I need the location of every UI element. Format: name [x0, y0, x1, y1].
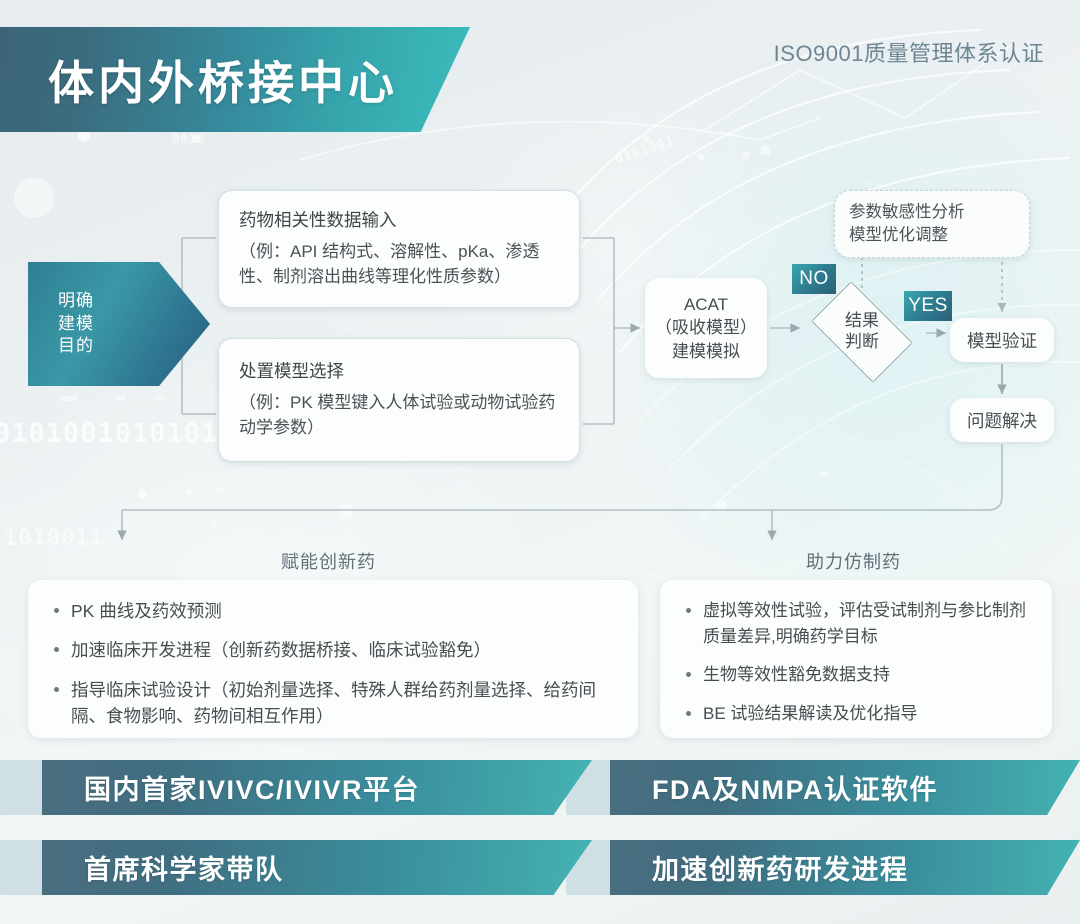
badge-no: NO: [792, 264, 836, 294]
bullet-icon: [686, 608, 691, 613]
glow-dot-decoration: [218, 486, 224, 492]
strip-label: 国内首家IVIVC/IVIVR平台: [84, 768, 420, 807]
decision-line-2: 判断: [845, 332, 879, 353]
binary-code-decoration: 0010: [172, 132, 205, 146]
bullet-icon: [54, 647, 59, 652]
page-title: 体内外桥接中心: [48, 47, 398, 113]
glow-dot-decoration: [820, 470, 828, 478]
strip-label: 首席科学家带队: [84, 848, 284, 887]
purpose-line-2: 建模: [28, 313, 210, 335]
glow-dot-decoration: [716, 500, 727, 511]
strip-banner-ivivc-platform: 国内首家IVIVC/IVIVR平台: [42, 760, 592, 815]
acat-line-3: 建模模拟: [672, 340, 740, 363]
binary-code-decoration: 1010011: [4, 526, 104, 551]
node-model-validation: 模型验证: [950, 318, 1054, 362]
node-sensitivity-analysis: 参数敏感性分析 模型优化调整: [834, 190, 1030, 258]
iso-certification-label: ISO9001质量管理体系认证: [774, 36, 1044, 68]
purpose-line-1: 明确: [28, 290, 210, 312]
node-drug-data-input: 药物相关性数据输入 （例：API 结构式、溶解性、pKa、渗透性、制剂溶出曲线等…: [218, 190, 580, 308]
bullet-icon: [686, 672, 691, 677]
purpose-line-3: 目的: [28, 335, 210, 357]
list-item-text: PK 曲线及药效预测: [71, 598, 222, 624]
bullet-icon: [686, 711, 691, 716]
heading-innovative-drugs: 赋能创新药: [281, 548, 376, 574]
panel-innovative-drugs: PK 曲线及药效预测 加速临床开发进程（创新药数据桥接、临床试验豁免） 指导临床…: [28, 580, 638, 738]
validate-label: 模型验证: [967, 328, 1037, 353]
list-item-text: 指导临床试验设计（初始剂量选择、特殊人群给药剂量选择、给药间隔、食物影响、药物间…: [71, 677, 618, 730]
glow-dot-decoration: [340, 505, 354, 519]
list-item: 加速临床开发进程（创新药数据桥接、临床试验豁免）: [50, 637, 618, 663]
glow-dot-decoration: [114, 396, 126, 401]
purpose-arrow-node: 明确 建模 目的: [28, 262, 210, 386]
list-item: 指导临床试验设计（初始剂量选择、特殊人群给药剂量选择、给药间隔、食物影响、药物间…: [50, 677, 618, 730]
glow-dot-decoration: [138, 490, 147, 499]
sensitivity-line-2: 模型优化调整: [849, 224, 1029, 247]
strip-banner-accelerate-rnd: 加速创新药研发进程: [610, 840, 1080, 895]
bullet-icon: [54, 608, 59, 613]
list-item-text: 加速临床开发进程（创新药数据桥接、临床试验豁免）: [71, 637, 491, 663]
panel-generic-drugs: 虚拟等效性试验，评估受试制剂与参比制剂质量差异,明确药学目标 生物等效性豁免数据…: [660, 580, 1052, 738]
solve-label: 问题解决: [967, 408, 1037, 433]
glow-dot-decoration: [192, 135, 200, 143]
heading-generic-drugs: 助力仿制药: [806, 548, 901, 574]
binary-code-decoration: 01010010101010: [0, 418, 236, 449]
node-title: 处置模型选择: [239, 358, 561, 383]
node-acat-model: ACAT （吸收模型） 建模模拟: [645, 278, 767, 378]
list-item-text: 生物等效性豁免数据支持: [703, 662, 890, 688]
list-item: PK 曲线及药效预测: [50, 598, 618, 624]
binary-code-decoration: 0101001: [613, 134, 676, 167]
acat-line-1: ACAT: [684, 293, 728, 316]
glow-dot-decoration: [156, 396, 165, 401]
decision-line-1: 结果: [845, 311, 879, 332]
glow-dot-decoration: [212, 520, 217, 525]
badge-yes: YES: [904, 291, 952, 321]
list-item-text: 虚拟等效性试验，评估受试制剂与参比制剂质量差异,明确药学目标: [703, 598, 1032, 649]
node-problem-solved: 问题解决: [950, 398, 1054, 442]
node-detail: （例：PK 模型键入人体试验或动物试验药动学参数）: [239, 390, 561, 441]
header-banner: 体内外桥接中心: [0, 27, 470, 132]
sensitivity-line-1: 参数敏感性分析: [849, 201, 1029, 224]
infographic-page: 01010010101010 1010011 0101001 0010 体内外桥…: [0, 0, 1080, 924]
node-pk-model-selection: 处置模型选择 （例：PK 模型键入人体试验或动物试验药动学参数）: [218, 338, 580, 462]
glow-dot-decoration: [60, 396, 78, 401]
acat-line-2: （吸收模型）: [655, 316, 757, 339]
glow-dot-decoration: [186, 488, 193, 495]
strip-label: 加速创新药研发进程: [652, 848, 909, 887]
list-item: 虚拟等效性试验，评估受试制剂与参比制剂质量差异,明确药学目标: [682, 598, 1032, 649]
strip-label: FDA及NMPA认证软件: [652, 768, 938, 807]
list-item: BE 试验结果解读及优化指导: [682, 701, 1032, 727]
bullet-icon: [54, 687, 59, 692]
strip-banner-chief-scientist: 首席科学家带队: [42, 840, 592, 895]
list-item: 生物等效性豁免数据支持: [682, 662, 1032, 688]
glow-dot-decoration: [14, 178, 54, 218]
strip-banner-fda-nmpa: FDA及NMPA认证软件: [610, 760, 1080, 815]
node-detail: （例：API 结构式、溶解性、pKa、渗透性、制剂溶出曲线等理化性质参数）: [239, 239, 561, 290]
list-item-text: BE 试验结果解读及优化指导: [703, 701, 917, 727]
node-title: 药物相关性数据输入: [239, 207, 561, 232]
